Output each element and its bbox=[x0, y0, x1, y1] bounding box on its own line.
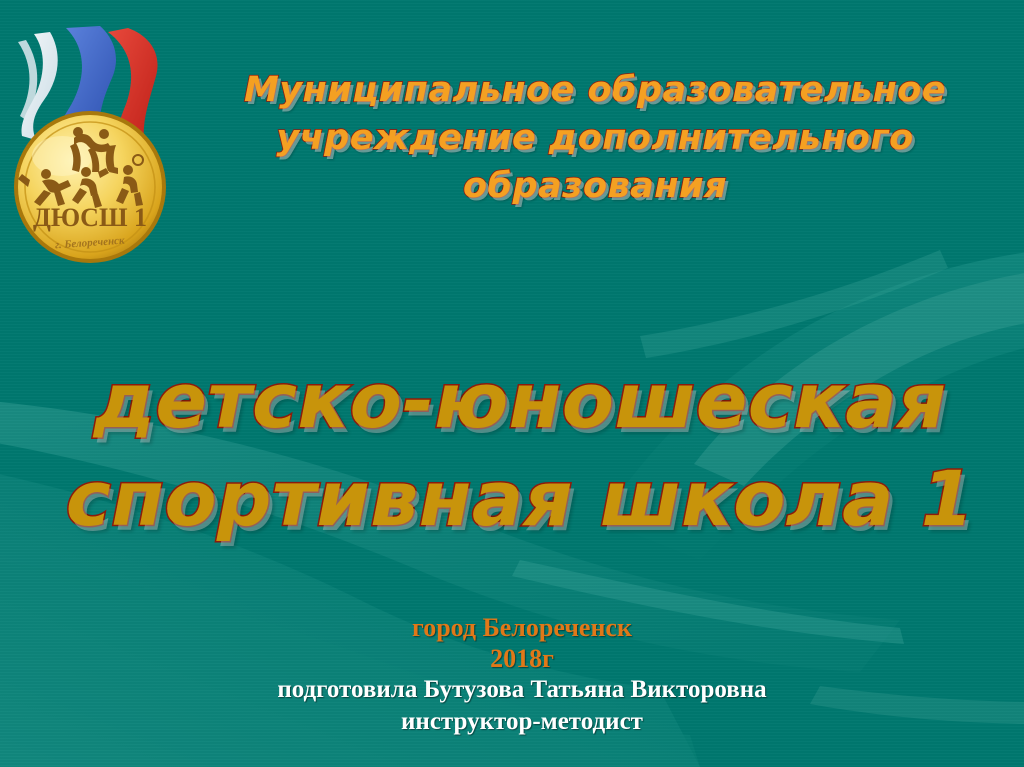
footer-year: 2018г bbox=[92, 643, 952, 674]
presentation-slide: ДЮСШ 1 г. Белореченск Муниципальное обра… bbox=[0, 0, 1024, 767]
header-line-1: Муниципальное образовательное bbox=[210, 66, 980, 114]
footer-role: инструктор-методист bbox=[92, 706, 952, 738]
medal-text: ДЮСШ 1 bbox=[33, 203, 147, 232]
header-line-3: образования bbox=[210, 162, 980, 210]
header-block: Муниципальное образовательное учреждение… bbox=[210, 66, 980, 210]
title-line-1: детско-юношеская bbox=[60, 352, 980, 450]
header-line-2: учреждение дополнительного bbox=[210, 114, 980, 162]
footer-city: город Белореченск bbox=[92, 612, 952, 643]
page-title: детско-юношеская спортивная школа 1 bbox=[60, 352, 980, 548]
dyussh-medal-logo: ДЮСШ 1 г. Белореченск bbox=[4, 20, 182, 268]
footer-author: подготовила Бутузова Татьяна Викторовна bbox=[92, 674, 952, 706]
title-line-2: спортивная школа 1 bbox=[60, 450, 980, 548]
swoosh-accent-2 bbox=[640, 250, 948, 358]
footer-block: город Белореченск 2018г подготовила Буту… bbox=[92, 612, 952, 738]
